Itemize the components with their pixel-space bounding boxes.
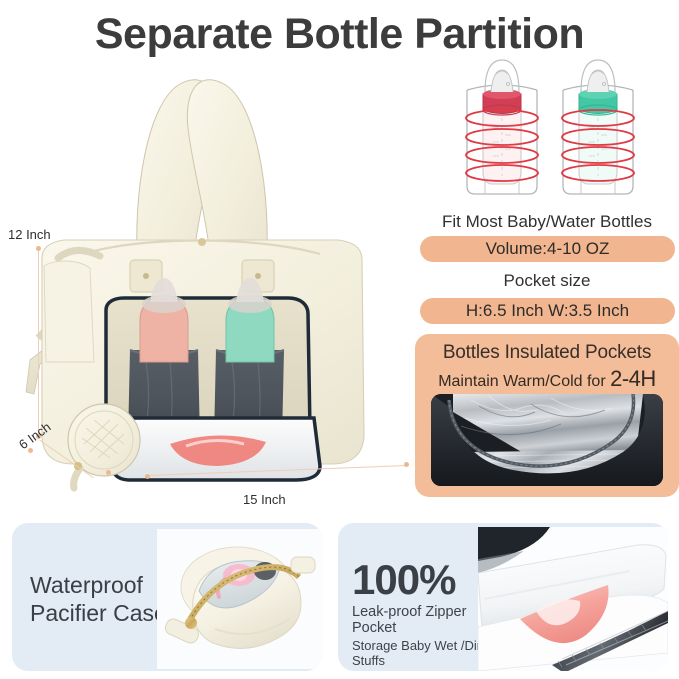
page-title: Separate Bottle Partition	[0, 10, 679, 59]
bag-svg	[20, 62, 420, 492]
insulated-pocket-photo	[431, 394, 663, 486]
insulated-subtitle: Maintain Warm/Cold for 2-4H	[415, 366, 679, 392]
pacifier-panel-text: Waterproof Pacifier Case	[30, 571, 170, 627]
pacifier-line1: Waterproof	[30, 571, 170, 599]
dimension-label-width: 15 Inch	[243, 492, 286, 507]
leakproof-zipper-panel: 100% Leak-proof Zipper Pocket Storage Ba…	[338, 523, 668, 671]
pocket-dimensions-badge: H:6.5 Inch W:3.5 Inch	[420, 298, 675, 324]
bottle-fit-diagram	[455, 58, 645, 206]
waterproof-pacifier-panel: Waterproof Pacifier Case	[12, 523, 322, 671]
insulated-subtitle-prefix: Maintain Warm/Cold for	[438, 373, 610, 390]
insulated-hours: 2-4H	[610, 366, 656, 391]
dimension-label-height: 12 Inch	[8, 227, 51, 242]
dimension-line-height	[38, 248, 39, 438]
baby-bottle-red-icon	[466, 60, 538, 194]
fit-bottles-text: Fit Most Baby/Water Bottles	[415, 212, 679, 232]
dimension-dot	[404, 462, 409, 467]
volume-badge: Volume:4-10 OZ	[420, 236, 675, 262]
infographic-page: Separate Bottle Partition	[0, 0, 679, 679]
dimension-dot	[106, 470, 111, 475]
dimension-dot	[145, 474, 150, 479]
pacifier-line2: Pacifier Case	[30, 599, 170, 627]
diaper-bag-illustration	[20, 62, 420, 492]
baby-bottle-green-icon	[562, 60, 634, 194]
insulated-pockets-panel: Bottles Insulated Pockets Maintain Warm/…	[415, 334, 679, 497]
pocket-size-label: Pocket size	[415, 271, 679, 291]
zipper-pocket-photo	[478, 527, 668, 671]
insulated-title: Bottles Insulated Pockets	[415, 342, 679, 364]
dimension-dot	[36, 246, 41, 251]
pacifier-case-photo	[157, 529, 322, 669]
